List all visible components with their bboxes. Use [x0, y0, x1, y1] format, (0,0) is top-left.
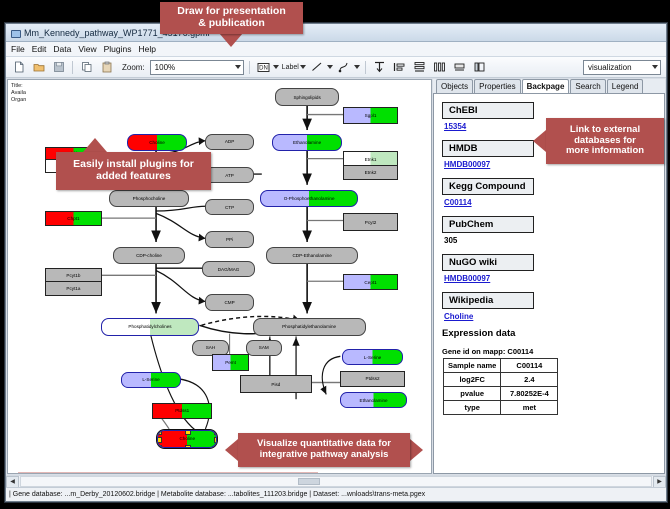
share-banner: Share on Wikipathways.org [18, 472, 318, 474]
gene-label: Pcyt1a [65, 286, 81, 291]
metabolite-node[interactable]: PPi [205, 231, 253, 247]
metabolite-node[interactable]: L-Serine [121, 372, 181, 388]
copy-icon[interactable] [78, 59, 95, 76]
callout-plugins-arrow [83, 138, 107, 152]
menu-item-help[interactable]: Help [139, 44, 156, 54]
gene-label: Pcyt2 [364, 220, 378, 225]
zoom-combo[interactable]: 100% [150, 60, 244, 75]
scroll-right-icon[interactable]: ▶ [653, 476, 666, 488]
expr-key-2: pvalue [444, 387, 501, 401]
tab-legend[interactable]: Legend [607, 79, 644, 93]
metabolite-label: Ethanolamine [359, 398, 389, 403]
metabolite-node[interactable]: Phosphatidylethanolamine [253, 318, 366, 335]
metabolite-label: L-Serine [363, 355, 382, 360]
db-title-hmdb: HMDB [442, 140, 534, 157]
selection-handle[interactable] [157, 430, 162, 435]
metabolite-label: SAM [258, 345, 270, 350]
chevron-down-icon-3 [300, 65, 306, 69]
db-value-pubchem: 305 [444, 236, 664, 245]
visualization-value: visualization [586, 63, 632, 72]
expression-data-title: Expression data [442, 328, 664, 339]
chevron-down-icon-4 [327, 65, 333, 69]
app-icon [10, 28, 20, 38]
gene-label: Etnk2 [364, 170, 378, 175]
metabolite-label: CDP-Ethanolamine [291, 253, 332, 258]
callout-visualize-arrow-left [225, 439, 238, 461]
datanode-icon[interactable]: DN [255, 59, 272, 76]
db-entry-pubchem: PubChem 305 [442, 214, 664, 245]
db-entry-kegg: Kegg Compound C00114 [442, 176, 664, 207]
svg-text:DN: DN [259, 65, 268, 71]
expr-key-0: Sample name [444, 359, 501, 373]
zoom-label: Zoom: [122, 63, 145, 72]
datanode-dropdown[interactable]: DN [255, 59, 279, 76]
expr-val-3: met [501, 401, 558, 415]
status-bar: | Gene database: ...m_Derby_20120602.bri… [6, 487, 666, 501]
align-top-icon[interactable] [371, 59, 388, 76]
gene-id-label: Gene id on mapp: C00114 [442, 347, 664, 356]
distribute-horizontal-icon[interactable] [431, 59, 448, 76]
metabolite-label: CMP [223, 300, 235, 305]
db-link-wikipedia[interactable]: Choline [444, 312, 664, 321]
expression-table: Sample name C00114 log2FC 2.4 pvalue 7.8… [443, 358, 558, 415]
callout-plugins-text: Easily install plugins for added feature… [73, 159, 194, 183]
callout-links: Link to external databases for more info… [546, 118, 664, 164]
menu-bar: File Edit Data View Plugins Help [6, 42, 666, 57]
metabolite-label: CDP-choline [135, 253, 163, 258]
horizontal-scrollbar[interactable]: ◀ ▶ [6, 475, 666, 487]
save-file-icon[interactable] [50, 59, 67, 76]
gene-label: Pcyt1b [65, 273, 81, 278]
label-dropdown[interactable]: Label [282, 64, 306, 71]
open-file-icon[interactable] [30, 59, 47, 76]
db-entry-wikipedia: Wikipedia Choline [442, 290, 664, 321]
metabolite-label: CTP [224, 205, 235, 210]
title-bar: Mm_Kennedy_pathway_WP1771_45176.gpml [6, 24, 666, 42]
callout-draw: Draw for presentation & publication [160, 2, 303, 34]
toolbar-separator-3 [365, 61, 366, 74]
callout-links-text: Link to external databases for more info… [566, 125, 644, 157]
menu-item-edit[interactable]: Edit [32, 44, 47, 54]
metabolite-node[interactable]: Phosphocholine [109, 190, 190, 207]
line-dropdown[interactable] [309, 59, 333, 76]
status-text: | Gene database: ...m_Derby_20120602.bri… [9, 491, 425, 498]
metabolite-label: SAH [205, 345, 216, 350]
metabolite-node[interactable]: CDP-Ethanolamine [266, 247, 359, 264]
db-entry-nugo: NuGO wiki HMDB00097 [442, 252, 664, 283]
visualization-combo[interactable]: visualization [583, 60, 661, 75]
metabolite-label: L-Serine [141, 377, 160, 382]
label-button-text: Label [282, 64, 299, 71]
metabolite-label: Phosphatidylethanolamine [281, 324, 337, 329]
gene-node[interactable]: Pemt [212, 354, 248, 371]
metabolite-node[interactable]: CDP-choline [113, 247, 186, 264]
metabolite-label: PPi [225, 237, 234, 242]
chevron-down-icon-5 [354, 65, 360, 69]
align-left-icon[interactable] [391, 59, 408, 76]
gene-node[interactable]: Etnk2 [343, 165, 397, 180]
tab-bar: Objects Properties Backpage Search Legen… [433, 79, 665, 93]
stack-vertical-icon[interactable] [411, 59, 428, 76]
tab-search[interactable]: Search [570, 79, 605, 93]
db-title-kegg: Kegg Compound [442, 178, 534, 195]
gene-label: Pemt [224, 360, 237, 365]
db-link-kegg[interactable]: C00114 [444, 198, 664, 207]
gene-label: Ptdss2 [365, 376, 381, 381]
paste-icon[interactable] [98, 59, 115, 76]
metabolite-node[interactable]: DAG/MAG [202, 261, 254, 277]
scroll-left-icon[interactable]: ◀ [6, 476, 19, 488]
chevron-down-icon-2 [273, 65, 279, 69]
toolbar: Zoom: 100% DN Label [6, 57, 666, 78]
gene-node[interactable]: Pcyt2 [343, 213, 397, 230]
metabolite-node[interactable]: CTP [205, 199, 253, 215]
table-row: type met [444, 401, 558, 415]
new-file-icon[interactable] [10, 59, 27, 76]
callout-draw-text: Draw for presentation & publication [177, 6, 286, 30]
pathvisio-window: Mm_Kennedy_pathway_WP1771_45176.gpml Fil… [5, 23, 667, 502]
metabolite-node[interactable]: Phosphatidylcholines [101, 318, 200, 335]
callout-draw-arrow [219, 33, 243, 47]
metabolite-node[interactable]: ATP [205, 167, 253, 183]
gene-node[interactable]: Pcyt1a [45, 281, 101, 296]
metabolite-node[interactable]: Choline [127, 134, 187, 151]
scroll-thumb[interactable] [20, 476, 652, 487]
metabolite-node[interactable]: SAM [246, 340, 282, 356]
metabolite-label: Choline [178, 436, 196, 441]
gene-label: Cept1 [363, 280, 377, 285]
menu-item-file[interactable]: File [11, 44, 25, 54]
screenshot-root: Mm_Kennedy_pathway_WP1771_45176.gpml Fil… [0, 0, 670, 509]
db-link-nugo[interactable]: HMDB00097 [444, 274, 664, 283]
table-row: pvalue 7.80252E-4 [444, 387, 558, 401]
toolbar-separator-2 [249, 61, 250, 74]
metabolite-label: DAG/MAG [217, 267, 241, 272]
toolbar-separator [72, 61, 73, 74]
callout-visualize: Visualize quantitative data for integrat… [238, 433, 410, 467]
menu-item-view[interactable]: View [78, 44, 96, 54]
metabolite-node[interactable]: ADP [205, 134, 253, 150]
db-title-chebi: ChEBI [442, 102, 534, 119]
menu-item-plugins[interactable]: Plugins [104, 44, 132, 54]
expr-val-0: C00114 [501, 359, 558, 373]
db-title-nugo: NuGO wiki [442, 254, 534, 271]
metabolite-label: ATP [224, 173, 235, 178]
metabolite-label: Sphingolipids [292, 95, 321, 100]
table-row: log2FC 2.4 [444, 373, 558, 387]
metabolite-label: O-Phosphoethanolamine [283, 196, 336, 201]
order-icon[interactable] [471, 59, 488, 76]
metabolite-label: Ethanolamine [292, 140, 322, 145]
gene-label: Etnk1 [364, 157, 378, 162]
db-title-pubchem: PubChem [442, 216, 534, 233]
gene-node[interactable]: Ptdss1 [152, 403, 212, 419]
expr-key-3: type [444, 401, 501, 415]
chevron-down-icon [235, 65, 241, 69]
gene-node[interactable]: Cept1 [343, 274, 397, 290]
tab-properties[interactable]: Properties [474, 79, 520, 93]
gene-label: Ptdss1 [174, 408, 190, 413]
metabolite-node[interactable]: Sphingolipids [275, 88, 339, 105]
metabolite-node[interactable]: Ethanolamine [272, 134, 342, 151]
line-icon[interactable] [309, 59, 326, 76]
metabolite-node[interactable]: CMP [205, 294, 253, 310]
gene-node[interactable]: Chpt1 [45, 211, 101, 226]
metabolite-label: Choline [148, 140, 166, 145]
metabolite-node[interactable]: O-Phosphoethanolamine [260, 190, 359, 207]
tab-objects[interactable]: Objects [436, 79, 473, 93]
gene-node[interactable]: Pisd [240, 375, 313, 392]
gene-node[interactable]: Ptdss2 [340, 371, 404, 387]
table-row: Sample name C00114 [444, 359, 558, 373]
metabolite-node[interactable]: L-Serine [342, 349, 402, 365]
group-icon[interactable] [451, 59, 468, 76]
metabolite-node[interactable]: Choline [157, 430, 217, 447]
callout-visualize-arrow-right [410, 439, 423, 461]
expr-val-1: 2.4 [501, 373, 558, 387]
selection-handle[interactable] [185, 445, 191, 448]
callout-visualize-text: Visualize quantitative data for integrat… [257, 439, 391, 460]
selection-handle[interactable] [157, 437, 162, 443]
metabolite-node[interactable]: Ethanolamine [340, 392, 406, 408]
tab-backpage[interactable]: Backpage [522, 79, 570, 94]
selection-handle[interactable] [185, 430, 191, 435]
gene-label: Chpt1 [66, 216, 80, 221]
gene-node[interactable]: Sgpl1 [343, 107, 397, 123]
interaction-dropdown[interactable] [336, 59, 360, 76]
gene-label: Pisd [270, 382, 281, 387]
metabolite-label: ADP [224, 139, 235, 144]
interaction-icon[interactable] [336, 59, 353, 76]
gene-label: Sgpl1 [364, 113, 378, 118]
expr-key-1: log2FC [444, 373, 501, 387]
zoom-value: 100% [153, 63, 175, 72]
metabolite-label: Phosphatidylcholines [127, 324, 172, 329]
expr-val-2: 7.80252E-4 [501, 387, 558, 401]
pathway-canvas[interactable]: Title: Availa Organ [7, 79, 432, 474]
metabolite-label: Phosphocholine [132, 196, 167, 201]
callout-plugins: Easily install plugins for added feature… [56, 152, 211, 190]
callout-links-arrow [533, 130, 546, 152]
db-title-wikipedia: Wikipedia [442, 292, 534, 309]
chevron-down-icon-6 [652, 65, 658, 69]
menu-item-data[interactable]: Data [53, 44, 71, 54]
